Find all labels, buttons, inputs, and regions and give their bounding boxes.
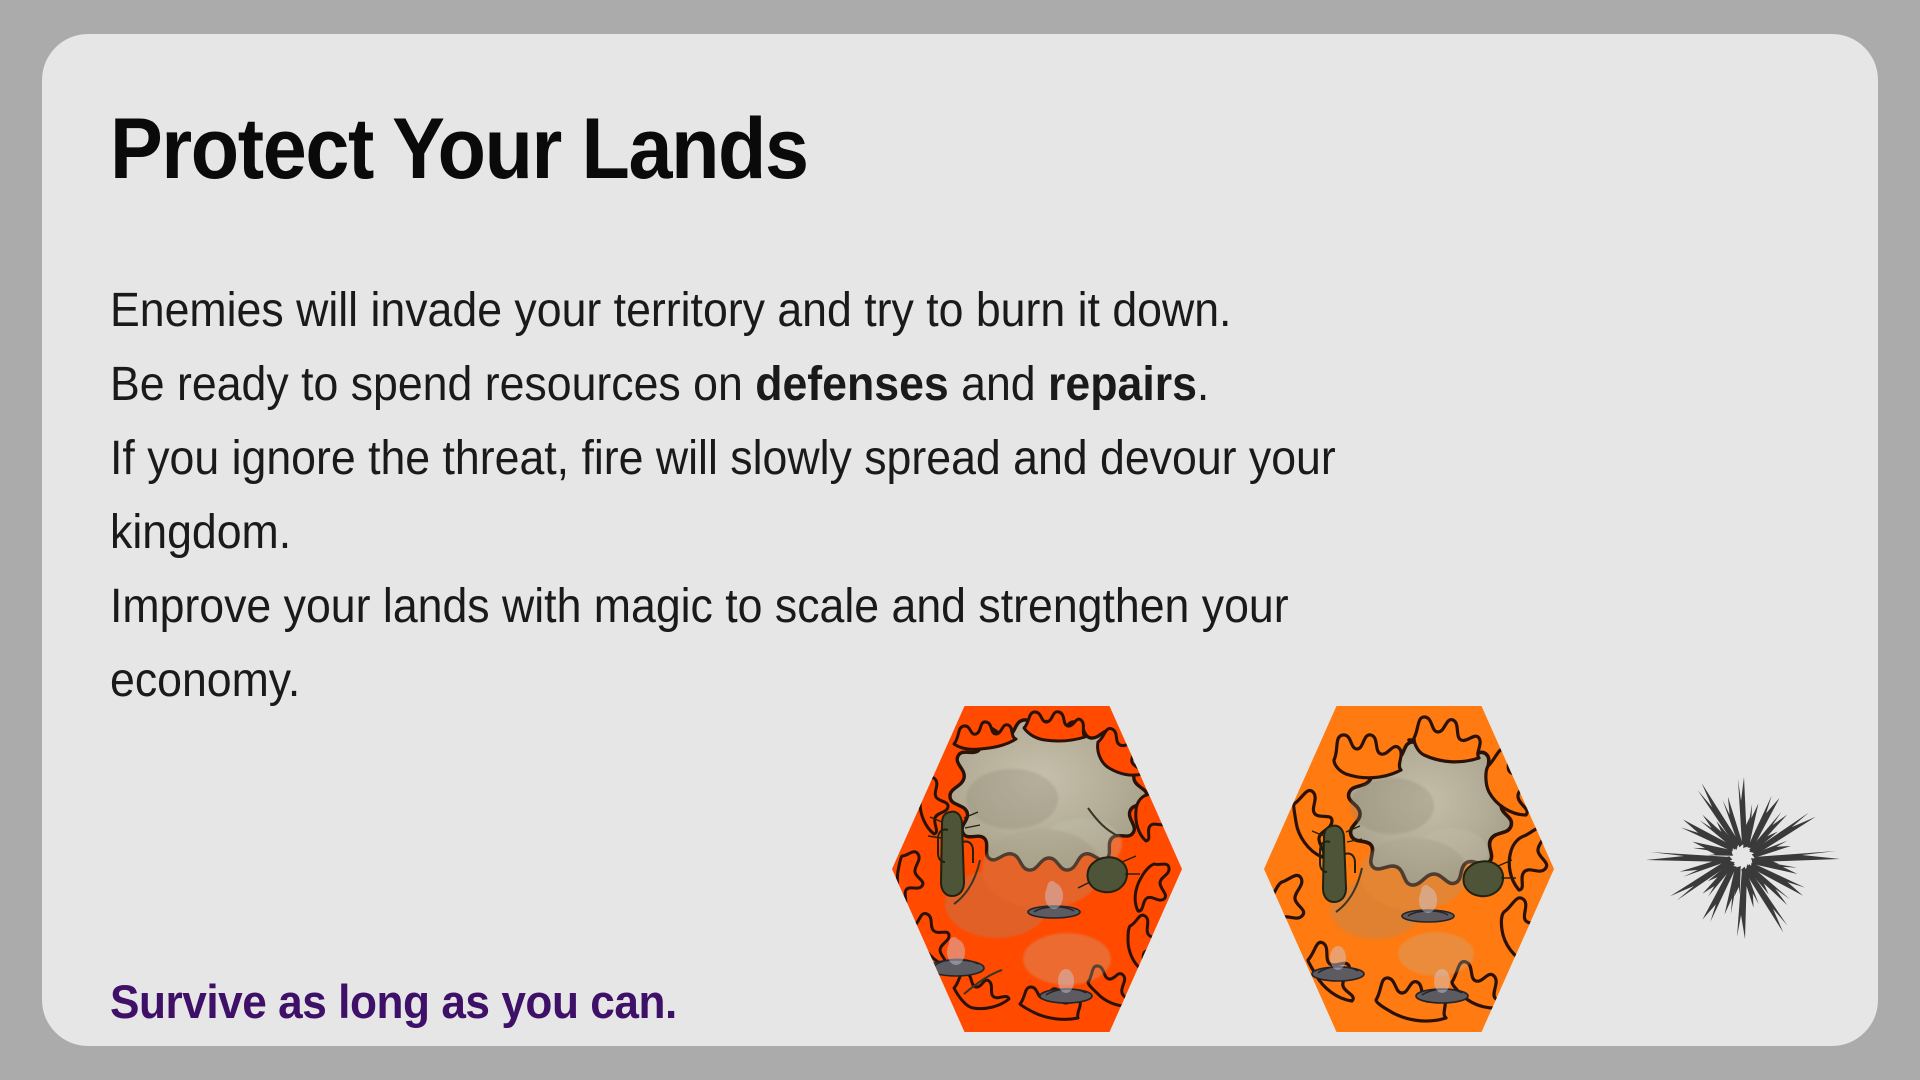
tagline: Survive as long as you can.: [110, 974, 677, 1029]
burning-hex-tile-1: [892, 704, 1182, 1034]
body-line-2: Be ready to spend resources on defenses …: [110, 348, 1700, 422]
page-title: Protect Your Lands: [110, 106, 808, 192]
body-line-4: kingdom.: [110, 496, 1700, 570]
info-card: Protect Your Lands Enemies will invade y…: [42, 34, 1878, 1046]
body-copy: Enemies will invade your territory and t…: [110, 274, 1700, 718]
slide-stage: Protect Your Lands Enemies will invade y…: [0, 0, 1920, 1080]
body-line-3: If you ignore the threat, fire will slow…: [110, 422, 1700, 496]
body-line-2-bold-defenses: defenses: [755, 358, 949, 411]
body-line-2-bold-repairs: repairs: [1048, 358, 1197, 411]
body-line-2-suffix: .: [1197, 358, 1209, 411]
body-line-1: Enemies will invade your territory and t…: [110, 274, 1700, 348]
body-line-5: Improve your lands with magic to scale a…: [110, 570, 1700, 644]
body-line-2-middle: and: [949, 358, 1048, 411]
body-line-2-prefix: Be ready to spend resources on: [110, 358, 755, 411]
burning-hex-tile-2: [1264, 704, 1554, 1034]
explosion-burst-icon: [1642, 769, 1842, 944]
